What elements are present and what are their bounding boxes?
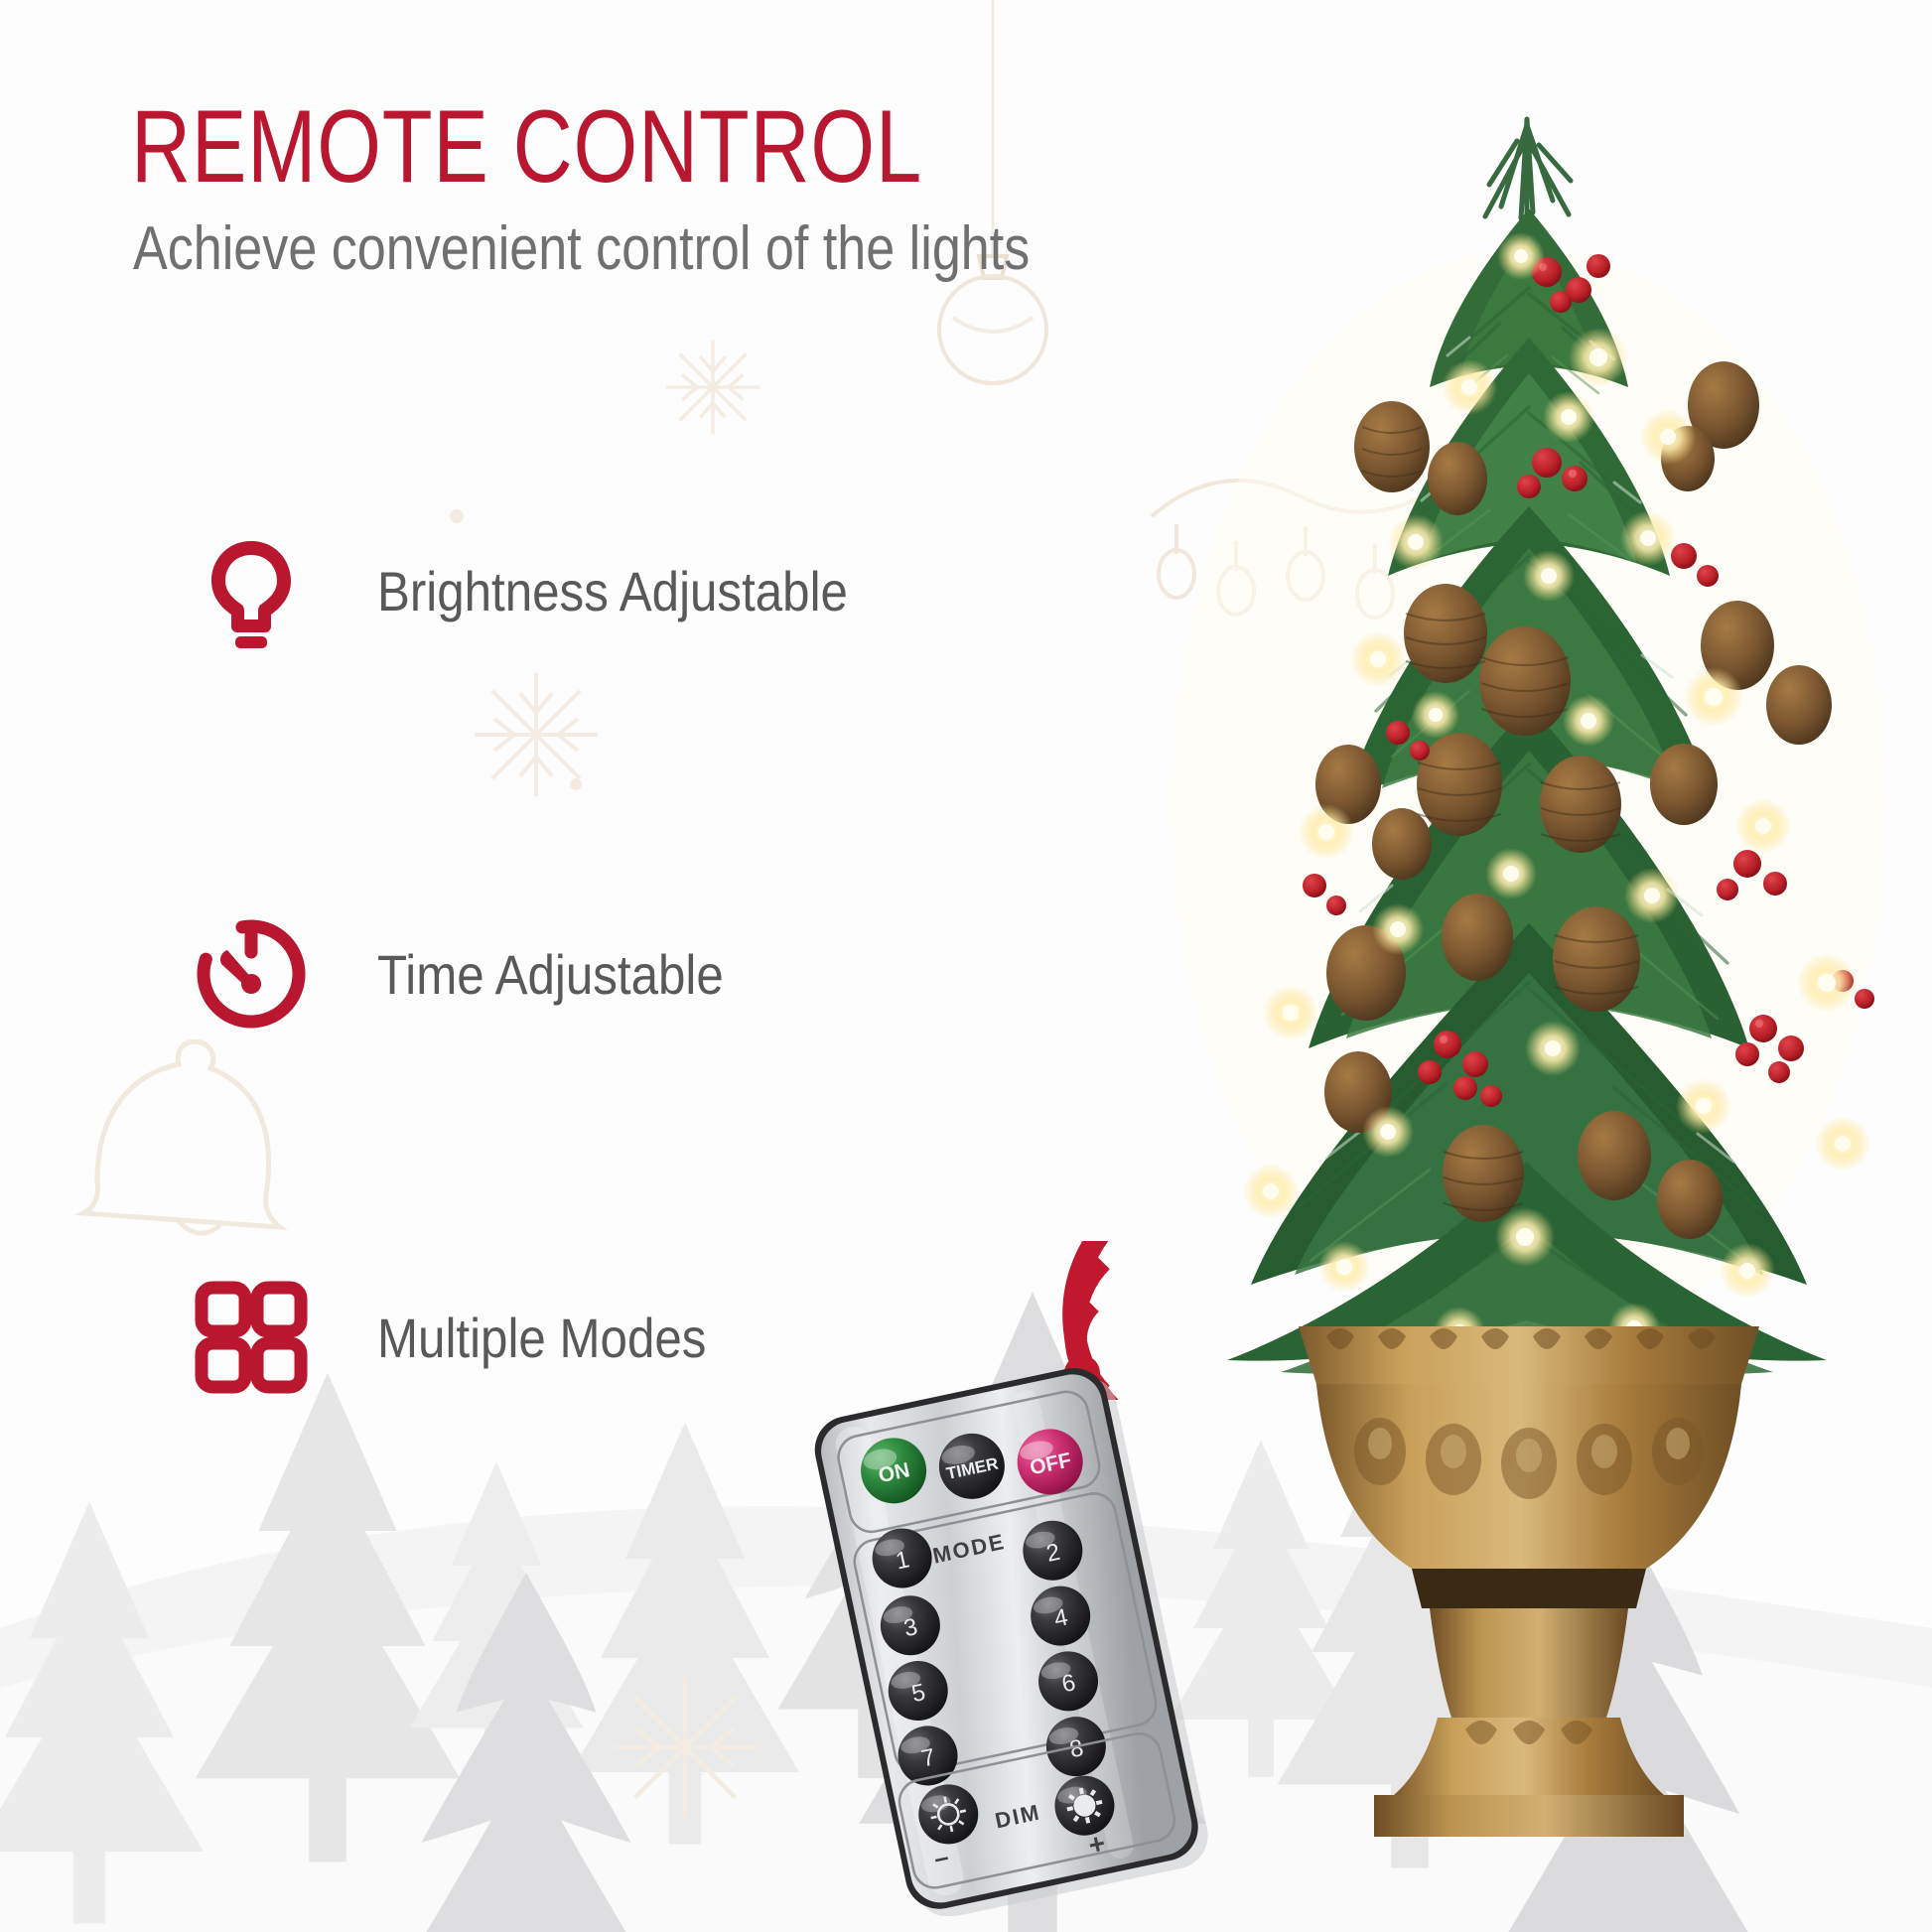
feature-brightness: Brightness Adjustable — [167, 506, 912, 675]
page-title: REMOTE CONTROL — [131, 95, 922, 199]
grid-modes-icon — [167, 1253, 336, 1422]
urn-planter — [1299, 1326, 1759, 1837]
feature-modes: Multiple Modes — [167, 1253, 752, 1422]
marketing-banner: REMOTE CONTROL Achieve convenient contro… — [0, 0, 1932, 1932]
feature-label: Time Adjustable — [377, 942, 724, 1007]
feature-label: Multiple Modes — [377, 1306, 706, 1370]
page-subtitle: Achieve convenient control of the lights — [133, 218, 1030, 280]
feature-timer: Time Adjustable — [167, 890, 770, 1058]
potted-christmas-tree — [1132, 89, 1932, 1837]
timer-icon — [167, 890, 336, 1058]
lightbulb-icon — [167, 506, 336, 675]
feature-label: Brightness Adjustable — [377, 559, 848, 623]
remote-control-device[interactable]: ON TIMER OFF MODE 1 — [814, 1360, 1231, 1916]
